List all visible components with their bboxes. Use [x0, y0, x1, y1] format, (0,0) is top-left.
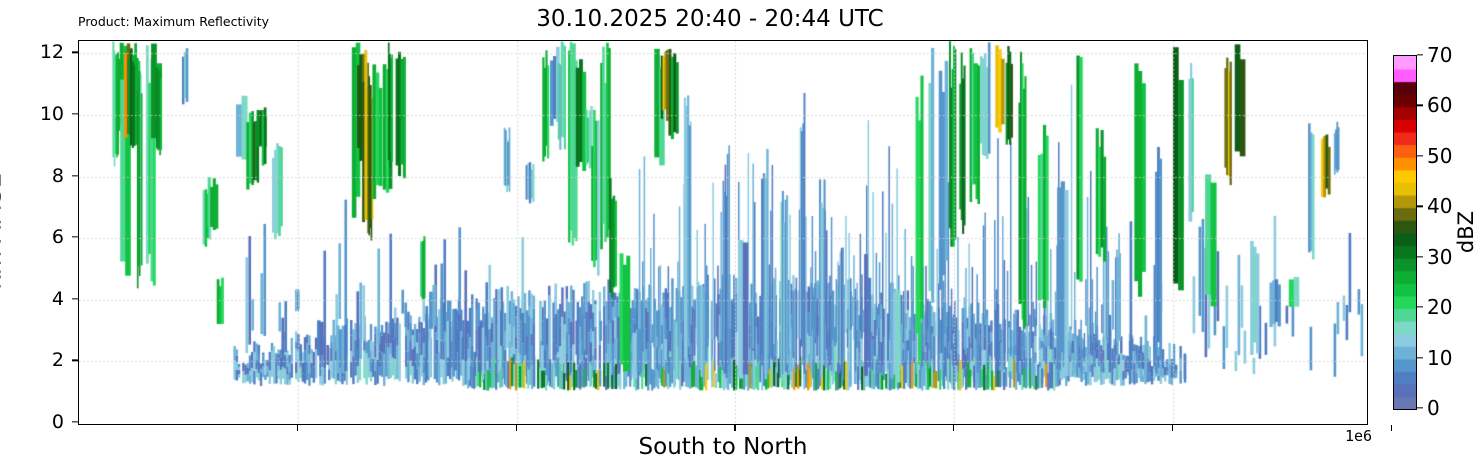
colorbar-tick-mark — [1417, 54, 1423, 55]
colorbar-tick-mark — [1417, 407, 1423, 408]
y-tick-mark — [72, 421, 78, 422]
colorbar-tick-mark — [1417, 155, 1423, 156]
page-title: 30.10.2025 20:40 - 20:44 UTC — [0, 6, 1420, 32]
colorbar-tick-mark — [1417, 357, 1423, 358]
y-tick-label: 6 — [52, 226, 64, 248]
plot-area — [78, 40, 1368, 425]
colorbar-tick-label: 10 — [1427, 346, 1452, 370]
colorbar-tick-label: 0 — [1427, 396, 1440, 420]
colorbar-title: dBZ — [1454, 211, 1478, 253]
y-tick-label: 8 — [52, 165, 64, 187]
x-axis-label: South to North — [78, 434, 1368, 460]
x-tick-mark — [516, 425, 517, 431]
colorbar-tick-label: 40 — [1427, 194, 1452, 218]
radar-cross-section-figure: Product: Maximum Reflectivity 30.10.2025… — [0, 0, 1482, 470]
colorbar-gradient — [1394, 56, 1416, 409]
y-tick-label: 0 — [52, 411, 64, 433]
colorbar-tick-mark — [1417, 256, 1423, 257]
colorbar-tick-mark — [1417, 105, 1423, 106]
x-tick-mark — [1172, 425, 1173, 431]
y-tick-mark — [72, 175, 78, 176]
x-tick-mark — [953, 425, 954, 431]
colorbar[interactable] — [1393, 55, 1417, 410]
y-tick-mark — [72, 298, 78, 299]
y-tick-label: 2 — [52, 349, 64, 371]
y-tick-mark — [72, 113, 78, 114]
colorbar-tick-label: 60 — [1427, 93, 1452, 117]
colorbar-tick-mark — [1417, 306, 1423, 307]
y-tick-mark — [72, 52, 78, 53]
reflectivity-heatmap-canvas — [79, 41, 1366, 423]
colorbar-tick-label: 20 — [1427, 295, 1452, 319]
y-axis-label: km AMSL — [0, 174, 7, 289]
y-tick-mark — [72, 237, 78, 238]
colorbar-tick-label: 30 — [1427, 245, 1452, 269]
colorbar-tick-label: 70 — [1427, 43, 1452, 67]
x-tick-mark — [734, 425, 735, 431]
x-tick-mark — [297, 425, 298, 431]
y-tick-label: 4 — [52, 288, 64, 310]
x-tick-mark — [1391, 425, 1392, 431]
y-tick-mark — [72, 360, 78, 361]
colorbar-tick-label: 50 — [1427, 144, 1452, 168]
colorbar-tick-mark — [1417, 206, 1423, 207]
x-axis-offset-label: 1e6 — [1345, 427, 1372, 445]
y-tick-label: 10 — [40, 103, 64, 125]
y-tick-label: 12 — [40, 41, 64, 63]
